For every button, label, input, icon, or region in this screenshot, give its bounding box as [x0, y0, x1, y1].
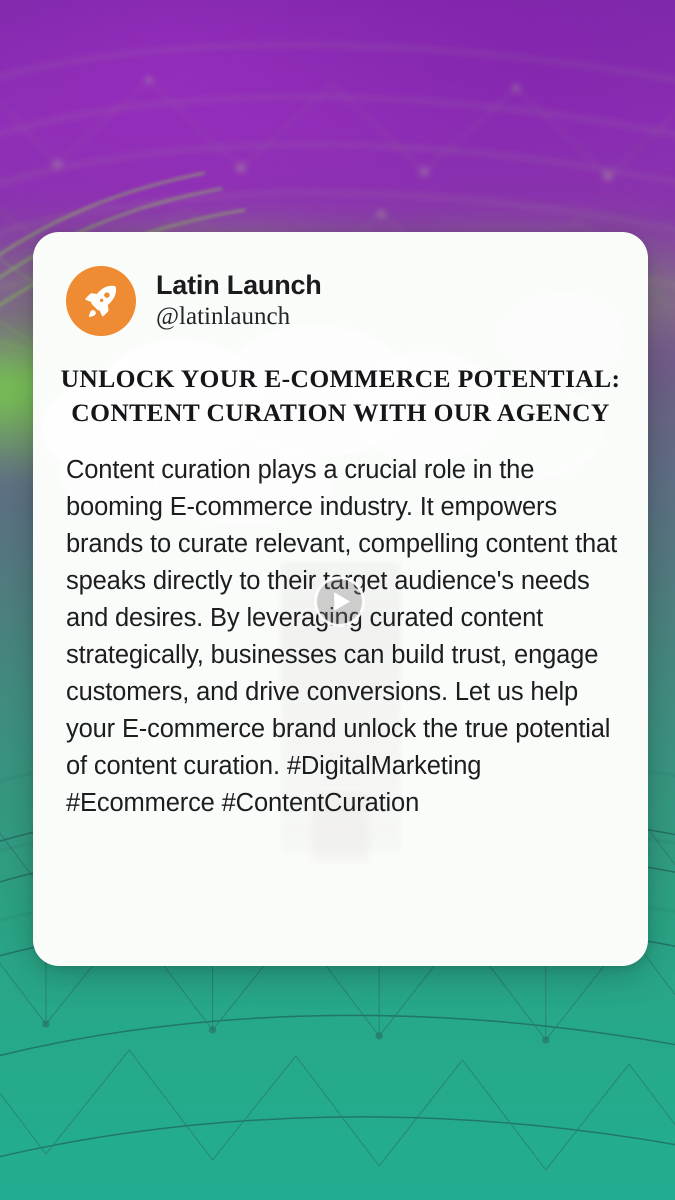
- display-name: Latin Launch: [156, 270, 322, 301]
- post-title: Unlock Your E-Commerce Potential: Conten…: [33, 336, 648, 430]
- post-header: Latin Launch @latinlaunch: [33, 232, 648, 336]
- play-icon: [313, 575, 366, 628]
- identity-block: Latin Launch @latinlaunch: [156, 270, 322, 333]
- rocket-icon: [80, 280, 122, 322]
- post-stage: Latin Launch @latinlaunch Unlock Your E-…: [0, 0, 675, 1200]
- avatar[interactable]: [66, 266, 136, 336]
- handle[interactable]: @latinlaunch: [156, 302, 322, 333]
- play-button[interactable]: [313, 575, 366, 628]
